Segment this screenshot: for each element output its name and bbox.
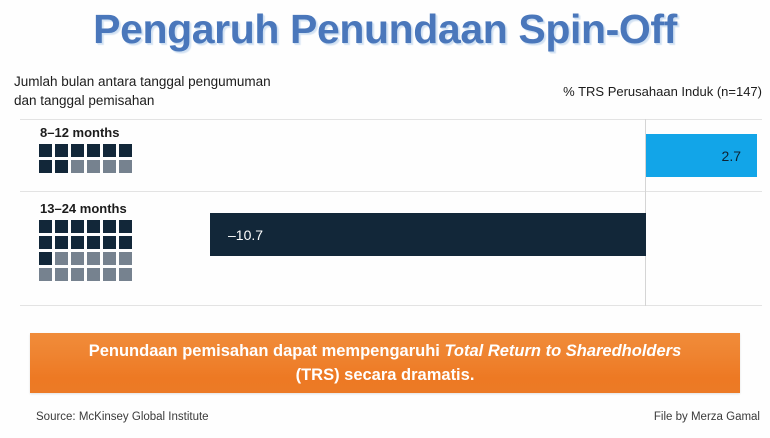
page-title: Pengaruh Penundaan Spin-Off (0, 6, 770, 53)
icon-grid-row (39, 236, 132, 249)
chart-bar-positive: 2.7 (646, 134, 757, 177)
square-icon (71, 160, 84, 173)
chart-left-caption: Jumlah bulan antara tanggal pengumuman d… (14, 72, 354, 110)
square-icon (55, 236, 68, 249)
chart-right-caption: % TRS Perusahaan Induk (n=147) (563, 84, 762, 99)
callout-banner-line1: Penundaan pemisahan dapat mempengaruhi T… (89, 339, 682, 363)
square-icon (103, 220, 116, 233)
square-icon (119, 268, 132, 281)
square-icon (87, 268, 100, 281)
square-icon (103, 252, 116, 265)
square-icon (39, 268, 52, 281)
square-icon (39, 236, 52, 249)
square-icon (39, 144, 52, 157)
square-icon (87, 220, 100, 233)
square-icon (39, 252, 52, 265)
icon-grid-row (39, 160, 132, 173)
square-icon (119, 160, 132, 173)
square-icon (71, 252, 84, 265)
square-icon (55, 252, 68, 265)
square-icon (39, 160, 52, 173)
slide-canvas: Pengaruh Penundaan Spin-Off Jumlah bulan… (0, 0, 770, 438)
chart-group-label: 8–12 months (40, 125, 119, 140)
chart-group-icon-grid (39, 144, 132, 176)
square-icon (55, 268, 68, 281)
square-icon (103, 236, 116, 249)
chart-rule-top (20, 119, 762, 120)
square-icon (39, 220, 52, 233)
icon-grid-row (39, 268, 132, 281)
chart-bar-value-label: –10.7 (210, 227, 263, 243)
chart-group-icon-grid (39, 220, 132, 284)
square-icon (55, 144, 68, 157)
callout-banner-line1-italic: Total Return to Sharedholders (444, 342, 681, 360)
callout-banner-line1-text: Penundaan pemisahan dapat mempengaruhi (89, 342, 445, 360)
chart-bar-value-label: 2.7 (722, 148, 757, 164)
square-icon (119, 220, 132, 233)
square-icon (71, 220, 84, 233)
chart-left-caption-line1: Jumlah bulan antara tanggal pengumuman (14, 74, 271, 89)
callout-banner: Penundaan pemisahan dapat mempengaruhi T… (30, 333, 740, 393)
chart-rule-middle (20, 191, 762, 192)
footer-source: Source: McKinsey Global Institute (36, 411, 209, 423)
square-icon (55, 160, 68, 173)
footer-credit: File by Merza Gamal (654, 411, 760, 423)
square-icon (87, 236, 100, 249)
callout-banner-line2: (TRS) secara dramatis. (296, 363, 475, 387)
icon-grid-row (39, 144, 132, 157)
square-icon (103, 268, 116, 281)
square-icon (103, 144, 116, 157)
square-icon (103, 160, 116, 173)
chart-bar-negative: –10.7 (210, 213, 646, 256)
square-icon (71, 268, 84, 281)
icon-grid-row (39, 220, 132, 233)
square-icon (87, 160, 100, 173)
chart-rule-bottom (20, 305, 762, 306)
chart-left-caption-line2: dan tanggal pemisahan (14, 91, 354, 110)
icon-grid-row (39, 252, 132, 265)
chart-group-label: 13–24 months (40, 201, 127, 216)
square-icon (71, 236, 84, 249)
square-icon (119, 144, 132, 157)
square-icon (119, 236, 132, 249)
chart-area: 8–12 months (20, 119, 762, 306)
square-icon (119, 252, 132, 265)
square-icon (55, 220, 68, 233)
square-icon (87, 252, 100, 265)
square-icon (87, 144, 100, 157)
square-icon (71, 144, 84, 157)
